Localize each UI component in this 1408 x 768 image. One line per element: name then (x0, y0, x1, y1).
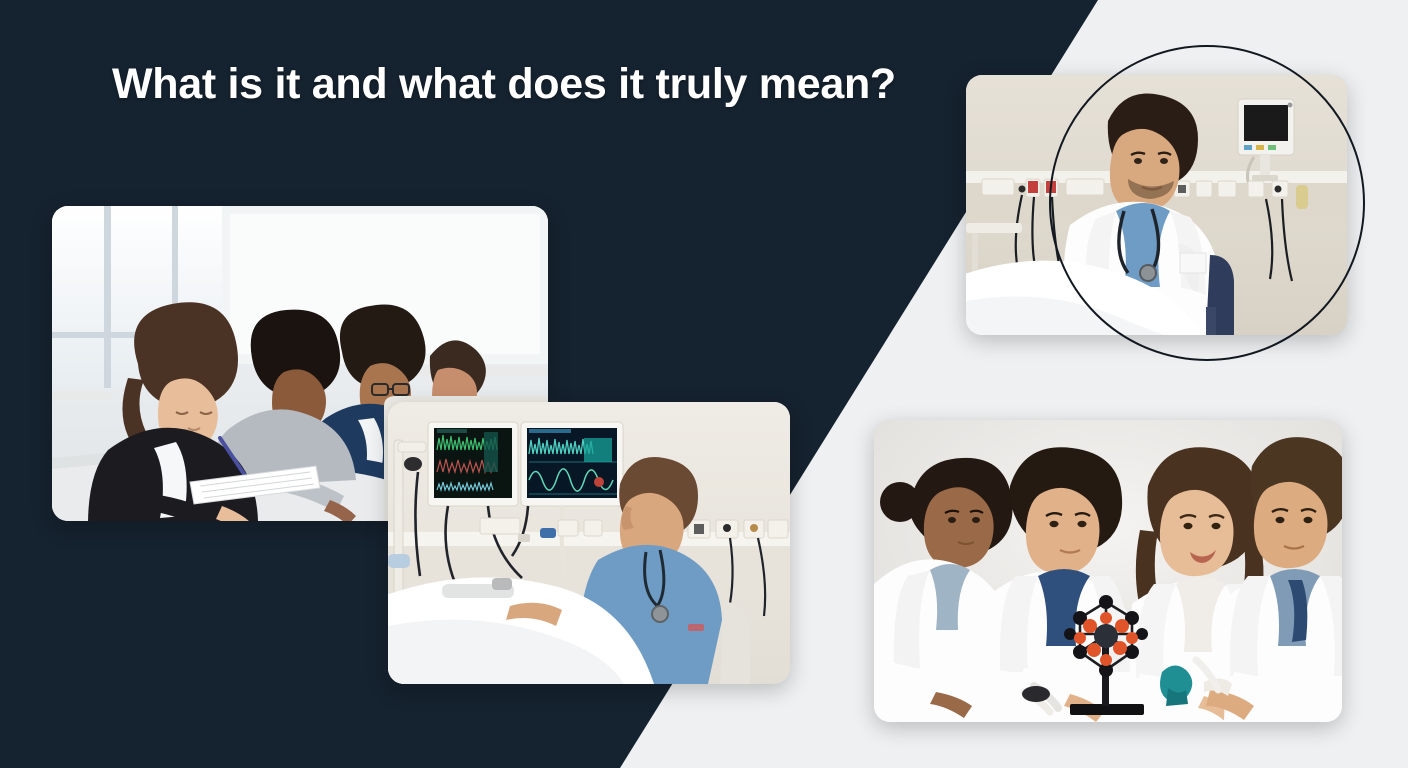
doctor-bedside-photo[interactable] (966, 75, 1347, 335)
lab-students-photo[interactable] (874, 420, 1342, 722)
bedside-monitors-photo[interactable] (388, 402, 790, 684)
slide-canvas: What is it and what does it truly mean? (0, 0, 1408, 768)
page-title: What is it and what does it truly mean? (112, 60, 896, 109)
